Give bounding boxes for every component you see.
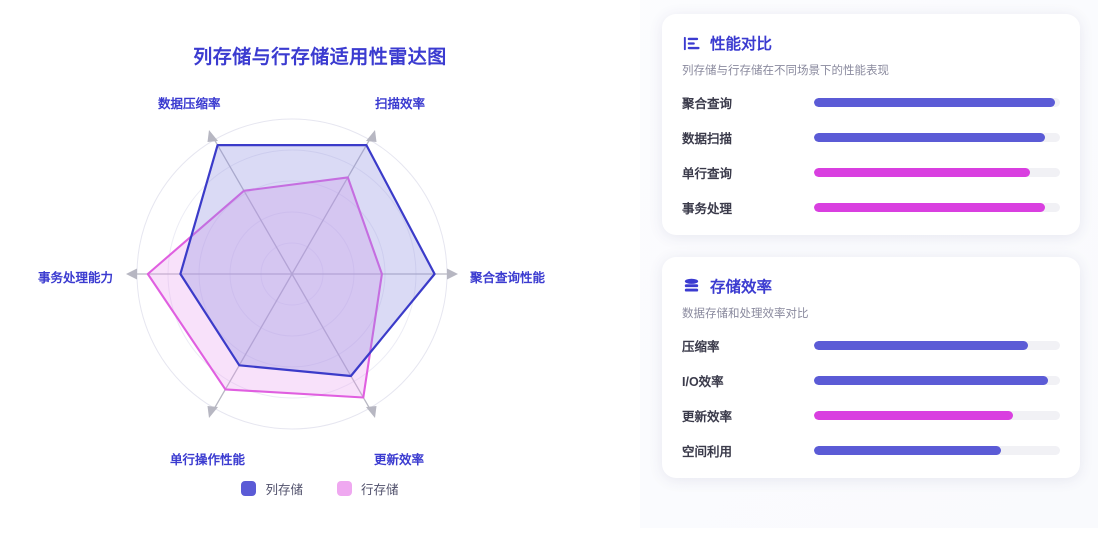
bar-list: 聚合查询 数据扫描 单行查询 — [682, 93, 1060, 217]
bar-label: 数据扫描 — [682, 128, 814, 147]
bar-fill — [814, 376, 1048, 385]
radar-chart-card: 列存储与行存储适用性雷达图 — [0, 0, 640, 528]
legend-label-row-store: 行存储 — [361, 479, 399, 498]
bar-fill — [814, 168, 1030, 177]
radar-axis-label-scan: 扫描效率 — [375, 93, 425, 112]
radar-axis-label-agg: 聚合查询性能 — [470, 267, 545, 286]
panel-title: 存储效率 — [710, 275, 772, 297]
database-icon — [682, 277, 701, 296]
radar-axis-label-single: 单行操作性能 — [170, 449, 245, 468]
bar-track — [814, 98, 1060, 107]
bar-label: 更新效率 — [682, 406, 814, 425]
legend-label-column-store: 列存储 — [265, 479, 303, 498]
bar-chart-icon — [682, 34, 701, 53]
bar-label: 单行查询 — [682, 163, 814, 182]
bar-track — [814, 168, 1060, 177]
panel-storage-efficiency: 存储效率 数据存储和处理效率对比 压缩率 I/O效率 更新效率 — [662, 257, 1080, 478]
dashboard-root: 列存储与行存储适用性雷达图 — [0, 0, 1098, 528]
bar-row: 更新效率 — [682, 406, 1060, 425]
legend-item-column-store[interactable]: 列存储 — [241, 479, 303, 498]
bar-label: 空间利用 — [682, 441, 814, 460]
bar-fill — [814, 203, 1045, 212]
bar-label: I/O效率 — [682, 371, 814, 390]
bar-row: 事务处理 — [682, 198, 1060, 217]
panel-subtitle: 数据存储和处理效率对比 — [682, 305, 1060, 321]
panel-subtitle: 列存储与行存储在不同场景下的性能表现 — [682, 62, 1060, 78]
bar-fill — [814, 446, 1001, 455]
bar-track — [814, 341, 1060, 350]
radar-axis-label-txn: 事务处理能力 — [38, 267, 113, 286]
radar-axis-label-compress: 数据压缩率 — [158, 93, 221, 112]
bar-label: 事务处理 — [682, 198, 814, 217]
bar-row: 压缩率 — [682, 336, 1060, 355]
bar-track — [814, 411, 1060, 420]
legend-swatch-row-store — [337, 481, 352, 496]
bar-fill — [814, 341, 1028, 350]
panel-title: 性能对比 — [710, 32, 772, 54]
legend-swatch-column-store — [241, 481, 256, 496]
bar-row: 空间利用 — [682, 441, 1060, 460]
bar-row: 聚合查询 — [682, 93, 1060, 112]
radar-svg — [0, 0, 640, 528]
bar-track — [814, 203, 1060, 212]
panel-performance-comparison: 性能对比 列存储与行存储在不同场景下的性能表现 聚合查询 数据扫描 — [662, 14, 1080, 235]
side-panels: 性能对比 列存储与行存储在不同场景下的性能表现 聚合查询 数据扫描 — [640, 0, 1098, 528]
bar-track — [814, 376, 1060, 385]
bar-label: 聚合查询 — [682, 93, 814, 112]
bar-fill — [814, 133, 1045, 142]
bar-label: 压缩率 — [682, 336, 814, 355]
legend-item-row-store[interactable]: 行存储 — [337, 479, 399, 498]
bar-track — [814, 133, 1060, 142]
radar-chart: 数据压缩率 扫描效率 聚合查询性能 更新效率 单行操作性能 事务处理能力 — [0, 0, 640, 528]
bar-fill — [814, 411, 1013, 420]
radar-legend: 列存储 行存储 — [0, 479, 640, 498]
bar-fill — [814, 98, 1055, 107]
bar-track — [814, 446, 1060, 455]
bar-row: 单行查询 — [682, 163, 1060, 182]
bar-row: I/O效率 — [682, 371, 1060, 390]
bar-list: 压缩率 I/O效率 更新效率 — [682, 336, 1060, 460]
panel-header: 存储效率 — [682, 275, 1060, 297]
panel-header: 性能对比 — [682, 32, 1060, 54]
bar-row: 数据扫描 — [682, 128, 1060, 147]
radar-axis-label-update: 更新效率 — [374, 449, 424, 468]
